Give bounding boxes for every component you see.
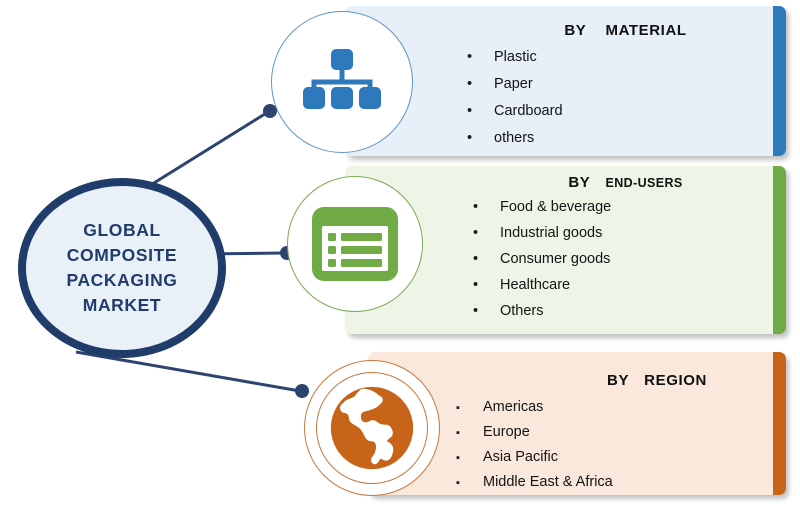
panel-title-endusers: BY END-USERS: [345, 174, 800, 192]
list-item[interactable]: • Others: [473, 300, 611, 326]
bullet-icon: ▪: [456, 472, 470, 494]
list-item[interactable]: ▪ Asia Pacific: [456, 446, 613, 471]
bullet-icon: •: [473, 248, 487, 270]
list-item[interactable]: • Paper: [467, 73, 563, 100]
bullet-icon: •: [473, 300, 487, 322]
icon-badge-region[interactable]: [304, 360, 440, 496]
market-center-circle[interactable]: GLOBAL COMPOSITE PACKAGING MARKET: [18, 178, 226, 358]
panel-title-material: BY MATERIAL: [345, 22, 800, 40]
list-item[interactable]: • Cardboard: [467, 100, 563, 127]
panel-list-region: ▪ Americas ▪ Europe ▪ Asia Pacific ▪ Mid…: [456, 396, 613, 496]
list-item[interactable]: • Plastic: [467, 46, 563, 73]
icon-badge-material[interactable]: [271, 11, 413, 153]
list-item-label: Asia Pacific: [456, 446, 558, 468]
list-item-label: Middle East & Africa: [456, 471, 613, 493]
list-item-label: Food & beverage: [473, 196, 611, 218]
list-item[interactable]: • Healthcare: [473, 274, 611, 300]
globe-icon: [323, 379, 421, 477]
panel-title-minor-material: MATERIAL: [605, 22, 686, 39]
bullet-icon: •: [473, 274, 487, 296]
panel-list-endusers: • Food & beverage • Industrial goods • C…: [473, 196, 611, 326]
list-item[interactable]: • others: [467, 127, 563, 154]
hierarchy-icon: [303, 49, 381, 115]
bullet-icon: •: [473, 222, 487, 244]
list-item-label: Healthcare: [473, 274, 570, 296]
list-item[interactable]: • Food & beverage: [473, 196, 611, 222]
list-item[interactable]: ▪ Middle East & Africa: [456, 471, 613, 496]
list-item[interactable]: • Consumer goods: [473, 248, 611, 274]
panel-title-major-region: BY: [607, 372, 629, 389]
panel-title-minor-endusers: END-USERS: [605, 176, 682, 190]
panel-title-minor-region: REGION: [644, 372, 707, 389]
list-item[interactable]: ▪ Americas: [456, 396, 613, 421]
market-center-label: GLOBAL COMPOSITE PACKAGING MARKET: [66, 218, 177, 318]
bullet-icon: •: [467, 100, 481, 122]
bullet-icon: ▪: [456, 397, 470, 419]
list-item-label: Industrial goods: [473, 222, 602, 244]
bullet-icon: •: [467, 127, 481, 149]
connector-dot-region: [295, 384, 309, 398]
center-line-3: PACKAGING: [66, 268, 177, 293]
panel-title-major-material: BY: [564, 22, 586, 39]
bullet-icon: •: [467, 46, 481, 68]
center-line-2: COMPOSITE: [66, 243, 177, 268]
center-line-1: GLOBAL: [66, 218, 177, 243]
panel-list-material: • Plastic • Paper • Cardboard • others: [467, 46, 563, 154]
list-item-label: Consumer goods: [473, 248, 610, 270]
panel-title-region: BY REGION: [368, 372, 800, 390]
list-item-label: Cardboard: [467, 100, 563, 122]
list-item[interactable]: • Industrial goods: [473, 222, 611, 248]
bullet-icon: ▪: [456, 447, 470, 469]
infographic-canvas: BY MATERIAL • Plastic • Paper • Cardboar…: [0, 0, 800, 507]
bullet-icon: ▪: [456, 422, 470, 444]
connector-line-region: [76, 352, 300, 391]
list-item[interactable]: ▪ Europe: [456, 421, 613, 446]
center-line-4: MARKET: [66, 293, 177, 318]
bullet-icon: •: [473, 196, 487, 218]
icon-badge-endusers[interactable]: [287, 176, 423, 312]
bullet-icon: •: [467, 73, 481, 95]
list-icon: [312, 207, 398, 281]
panel-title-major-endusers: BY: [568, 174, 590, 191]
